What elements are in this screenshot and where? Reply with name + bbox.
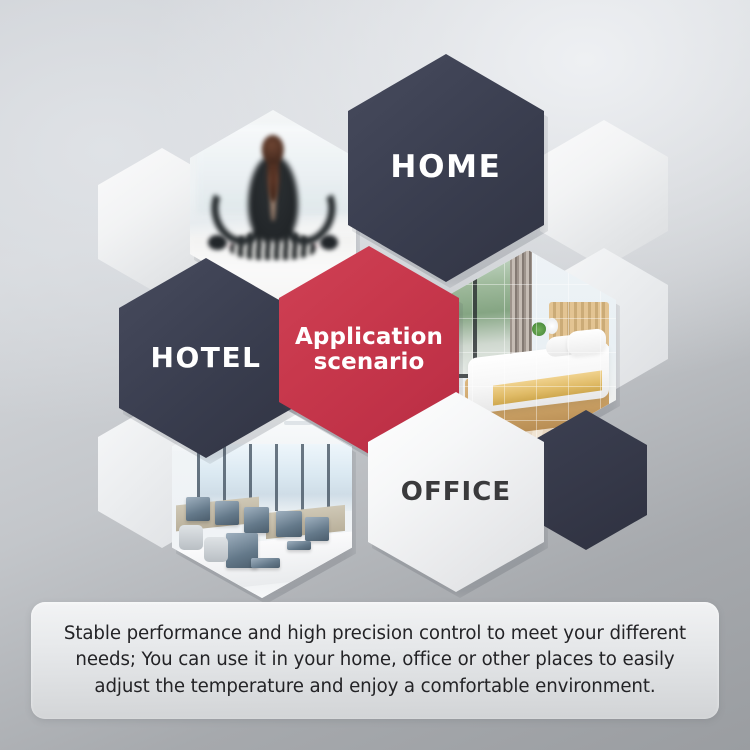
hex-face [540, 120, 668, 268]
office-chair [204, 537, 227, 561]
office-monitor [276, 511, 301, 537]
office-monitor [186, 497, 209, 521]
office-monitor [215, 501, 238, 525]
decorative-hex-pale-right-upper [540, 120, 668, 268]
office-monitor [244, 507, 269, 533]
office-keyboard [251, 558, 280, 568]
office-chair [179, 525, 202, 549]
office-keyboard [287, 541, 310, 549]
office-monitor [305, 517, 328, 541]
caption-text: Stable performance and high precision co… [31, 621, 719, 700]
yoga-head [262, 135, 284, 164]
caption-card: Stable performance and high precision co… [31, 602, 719, 719]
yoga-left-hand [208, 235, 226, 250]
yoga-right-hand [320, 235, 338, 250]
promo-banner: HOME HOTEL Application scenario OFFICE S [0, 0, 750, 750]
